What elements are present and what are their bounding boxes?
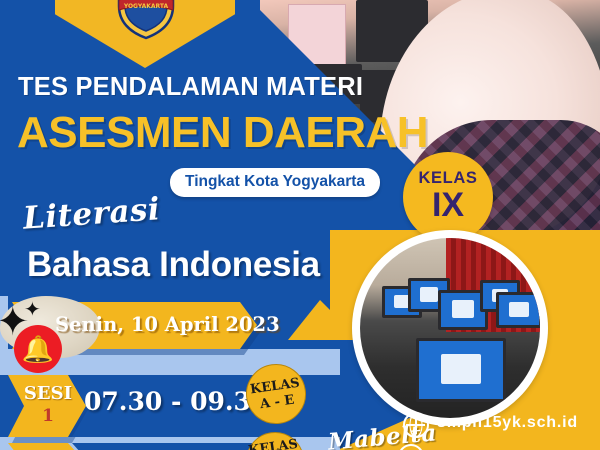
grade-badge-value: IX	[432, 188, 464, 224]
website-url[interactable]: smpn15yk.sch.id	[437, 414, 578, 432]
session-label: SESI	[18, 383, 78, 404]
session-number: 1	[18, 406, 78, 426]
globe-icon-meridian	[410, 412, 423, 438]
bell-icon: 🔔	[22, 336, 54, 362]
photo-computer-lab-circle	[352, 230, 548, 426]
exam-date: Senin, 10 April 2023	[55, 313, 255, 336]
headline-large: ASESMEN DAERAH	[17, 108, 428, 158]
svg-text:YOGYAKARTA: YOGYAKARTA	[123, 3, 169, 10]
grade-badge-label: KELAS	[419, 170, 478, 187]
grade-badge: KELAS IX	[403, 152, 493, 242]
sparkle-icon: ✦	[24, 300, 41, 320]
headline-small: TES PENDALAMAN MATERI	[18, 73, 363, 102]
poster-canvas: YOGYAKARTA TES PENDALAMAN MATERI ASESMEN…	[0, 0, 600, 450]
yogyakarta-city-emblem-icon: YOGYAKARTA	[113, 0, 179, 40]
session-time-band-secondary	[72, 443, 272, 450]
session-time: 07.30 - 09.30	[84, 387, 264, 416]
scope-pill: Tingkat Kota Yogyakarta	[170, 168, 380, 197]
class-range-label: KELAS	[247, 437, 298, 450]
subject-title: Bahasa Indonesia	[27, 245, 320, 285]
class-range-value: A - E	[259, 393, 295, 411]
